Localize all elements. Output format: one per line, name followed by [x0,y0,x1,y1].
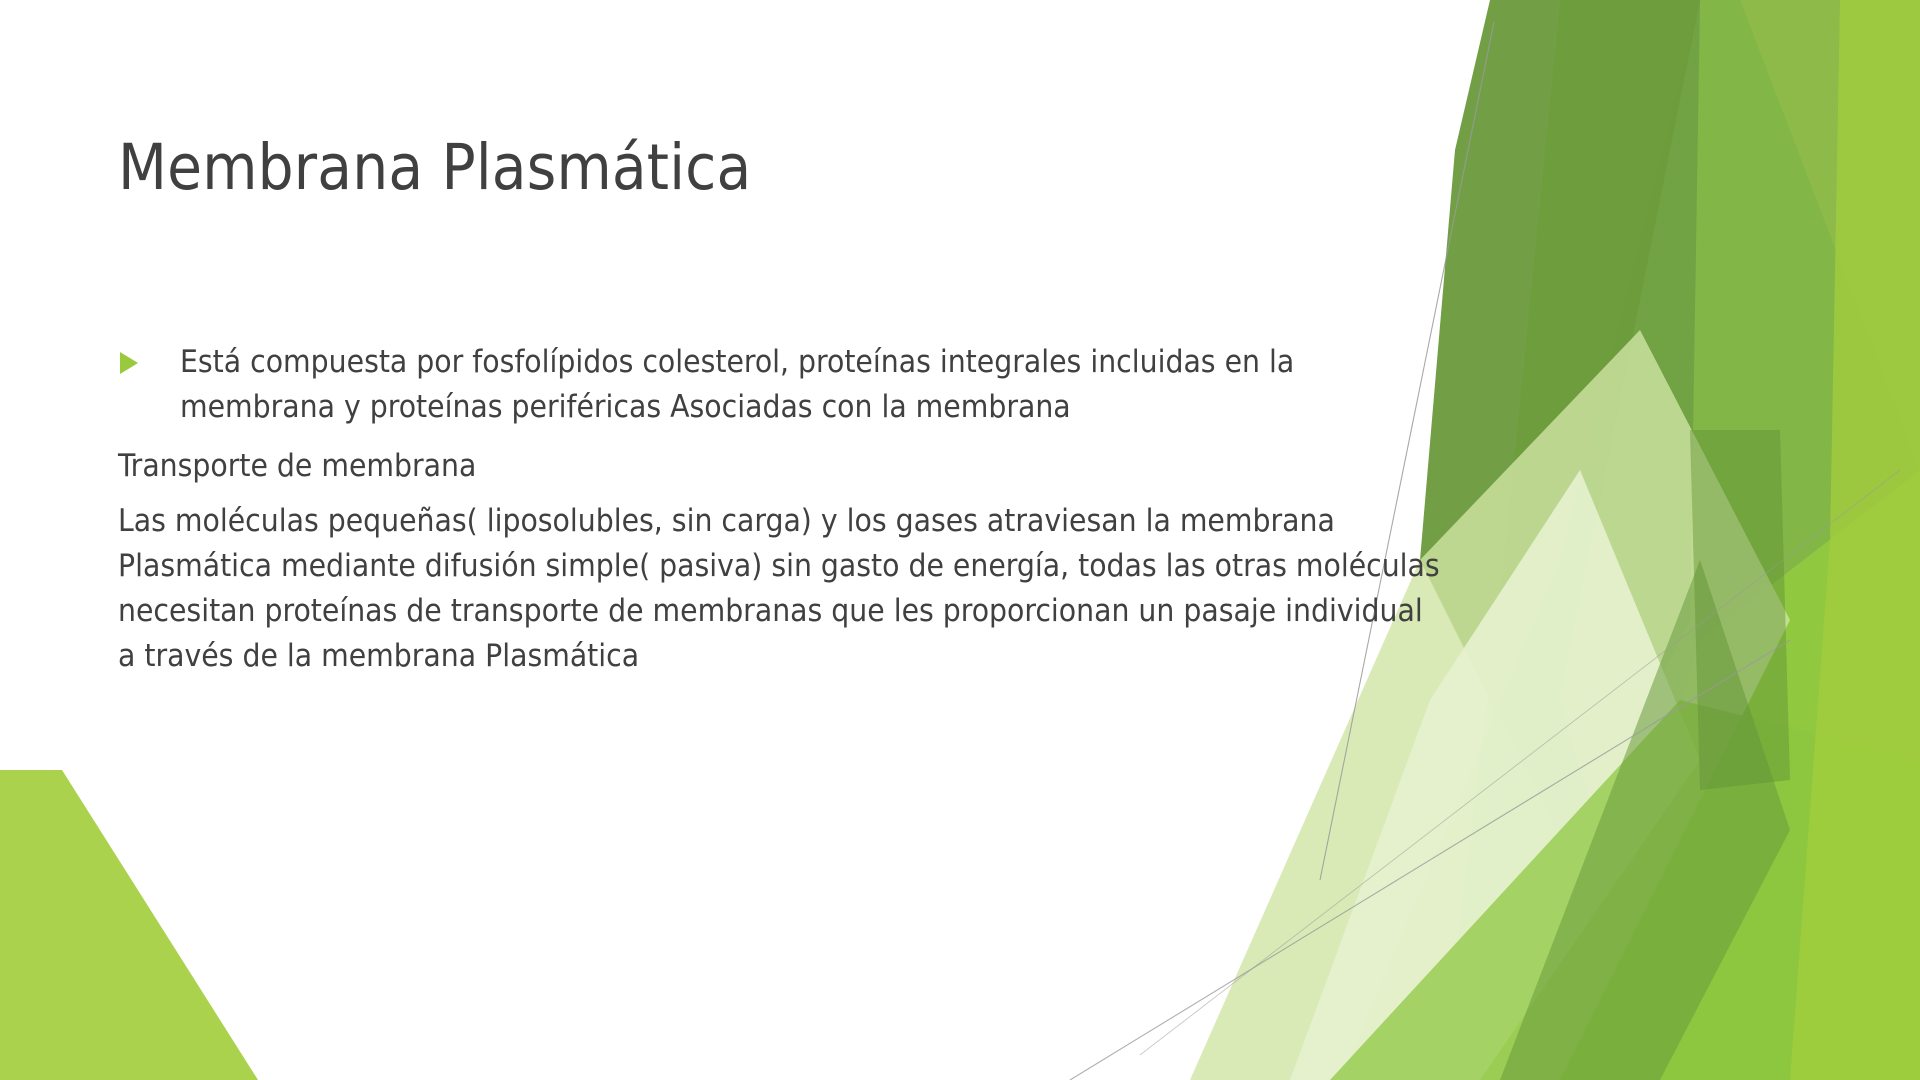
bullet-list-item: Está compuesta por fosfolípidos colester… [118,340,1448,430]
bullet-item-text: Está compuesta por fosfolípidos colester… [180,344,1294,425]
paragraph-descripcion: Las moléculas pequeñas( liposolubles, si… [118,499,1448,679]
body-text-block: Está compuesta por fosfolípidos colester… [118,340,1448,689]
page-title: Membrana Plasmática [118,134,1368,202]
presentation-slide: Membrana Plasmática Está compuesta por f… [0,0,1920,1080]
triangle-bullet-icon [120,352,138,374]
slide-content: Membrana Plasmática Está compuesta por f… [0,0,1920,1080]
paragraph-transporte-heading: Transporte de membrana [118,444,1448,489]
